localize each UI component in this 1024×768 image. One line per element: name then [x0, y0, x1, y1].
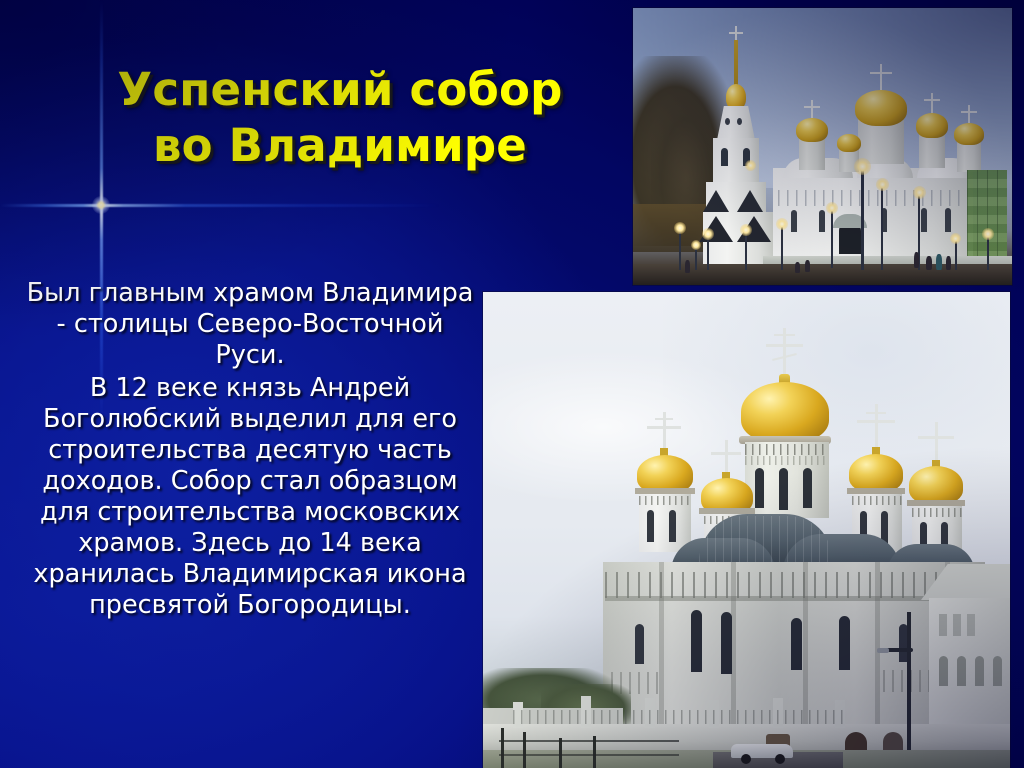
cathedral-dusk-photo	[633, 8, 1012, 285]
slide-body-text: Был главным храмом Владимира - столицы С…	[24, 278, 476, 623]
body-paragraph-1: Был главным храмом Владимира - столицы С…	[24, 278, 476, 371]
slide-title-line-2: во Владимире	[60, 118, 620, 174]
sparkle-horizontal-beam	[0, 204, 440, 207]
cathedral-daylight-photo	[483, 292, 1010, 768]
body-paragraph-2: В 12 веке князь Андрей Боголюбский выдел…	[24, 373, 476, 621]
slide-title-line-1: Успенский собор	[60, 62, 620, 118]
sparkle-core	[92, 196, 110, 214]
slide-title: Успенский собор во Владимире	[60, 62, 620, 174]
presentation-slide: Успенский собор во Владимире Был главным…	[0, 0, 1024, 768]
